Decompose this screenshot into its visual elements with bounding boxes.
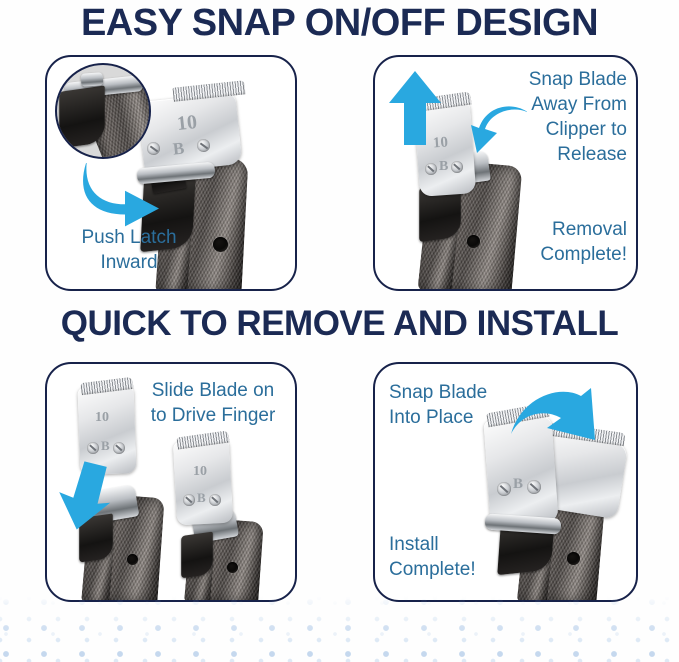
caption-removal-complete: Removal Complete! (455, 217, 627, 267)
caption-snap-blade-into-place: Snap Blade Into Place (389, 380, 529, 430)
blade-screw-right-a (183, 494, 195, 506)
blade-screw-right-b (209, 494, 221, 506)
blade-screw-left-a (87, 442, 99, 454)
clipper-body-left-hole (127, 554, 138, 565)
blade-number-mark-right: 10 (193, 464, 207, 480)
inset-latch-tip (81, 72, 104, 87)
panel-bottom-left: 10 B 10 B Slide Blade on to Drive Finger (45, 362, 297, 602)
caption-install-complete: Install Complete! (389, 532, 529, 582)
up-arrow-icon (387, 69, 443, 147)
caption-slide-blade: Slide Blade on to Drive Finger (137, 378, 289, 428)
page-title-middle: QUICK TO REMOVE AND INSTALL (0, 304, 679, 344)
panel-top-left: 10 B Push Latch Inward (45, 55, 297, 291)
blade-letter-mark: B (513, 476, 523, 493)
blade-letter-mark-left: B (101, 438, 110, 454)
panel-top-right: 10 B Snap Blade Away From Clipper to Rel… (373, 55, 638, 291)
panel-bottom-right: B Snap Blade Into Place Install Complete… (373, 362, 638, 602)
blade-number-mark: 10 (176, 111, 198, 136)
infographic-page: EASY SNAP ON/OFF DESIGN QUICK TO REMOVE … (0, 0, 679, 662)
caption-snap-blade-away: Snap Blade Away From Clipper to Release (455, 67, 627, 167)
inset-latch-arm (59, 86, 105, 149)
blade-screw-left (425, 163, 437, 175)
blade-screw-left-b (113, 442, 125, 454)
page-title-top: EASY SNAP ON/OFF DESIGN (0, 2, 679, 45)
decorative-dot-pattern (0, 596, 679, 662)
clipper-body-hole (567, 552, 580, 565)
down-arrow-icon (55, 460, 111, 532)
caption-push-latch: Push Latch Inward (55, 225, 203, 275)
blade-letter-mark: B (439, 159, 448, 175)
latch-closeup-inset (55, 63, 151, 159)
blade-screw-left (497, 482, 511, 496)
clipper-body-right-hole (227, 562, 238, 573)
blade-letter-mark: B (172, 138, 185, 159)
blade-screw-right (527, 480, 541, 494)
clipper-body-hole (213, 237, 228, 252)
blade-number-mark-left: 10 (95, 410, 109, 426)
blade-letter-mark-right: B (197, 490, 206, 506)
seating-blade-right (173, 439, 233, 526)
